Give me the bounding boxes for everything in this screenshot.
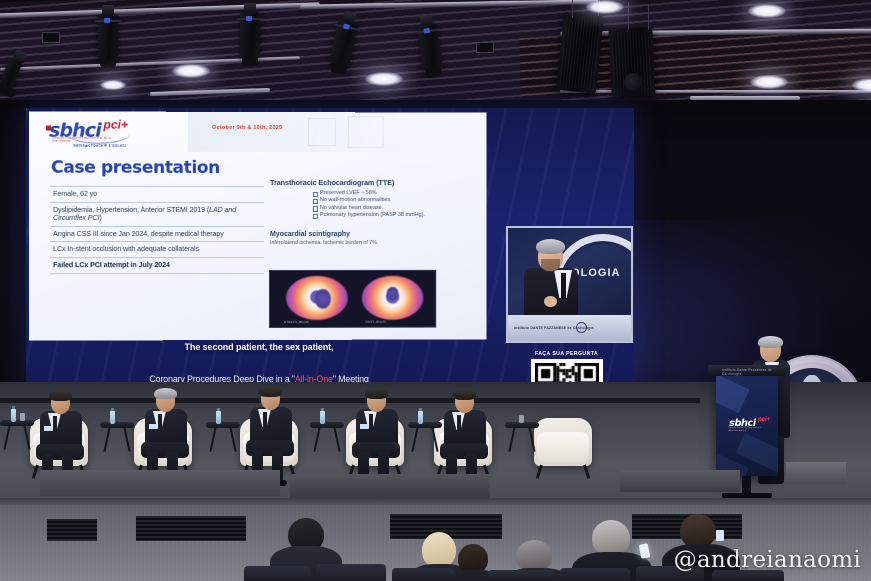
floor-riser-block	[786, 462, 846, 484]
side-table	[206, 422, 240, 452]
ceiling-downlight	[172, 64, 210, 78]
water-glass	[20, 413, 25, 421]
podium: Instituto Dante Pazzanese de Cardiologia…	[716, 365, 778, 485]
water-bottle	[320, 411, 325, 424]
side-table	[505, 422, 539, 452]
side-table	[0, 420, 34, 450]
panelist	[139, 390, 193, 462]
ceiling-loudspeaker	[556, 12, 604, 94]
slide-header-image	[188, 112, 487, 153]
history-row: Angina CSS III since Jan 2024, despite m…	[50, 227, 264, 243]
tte-finding: Pulmonary hypertension (PASP 38 mmHg).	[320, 212, 474, 219]
tte-heading: Transthoracic Echocardiogram (TTE)	[270, 178, 474, 187]
scintigraphy-label: STRESS_BN(IR)	[284, 320, 309, 324]
tte-findings-list: Preserved LVEF – 58% No wall-motion abno…	[280, 190, 474, 220]
slide-right-column: Transthoracic Echocardiogram (TTE) Prese…	[270, 178, 474, 246]
wall-vent	[47, 519, 97, 541]
podium-top-text: Instituto Dante Pazzanese de Cardiologia	[722, 368, 778, 376]
ceiling-downlight	[750, 75, 788, 89]
scintigraphy-label: REST_BN(IR)	[366, 320, 387, 324]
tte-finding: No valvular heart disease.	[320, 205, 474, 212]
water-bottle	[110, 411, 115, 424]
side-table	[310, 422, 344, 452]
side-table	[408, 422, 442, 452]
scintigraphy-heading: Myocardial scintigraphy	[270, 231, 474, 238]
qr-heading: FAÇA SUA PERGUNTA	[520, 351, 613, 357]
logo-suffix: pci+	[103, 118, 128, 132]
projection-screen: sbhci pci+ Coronary Procedures Deep Dive…	[26, 108, 634, 391]
speaker-video-feed: IOLOGIA Instituto DANTE PAZZANESE de Car…	[506, 226, 633, 343]
tte-finding: Preserved LVEF – 58%	[320, 190, 474, 197]
logo-partners: SWISS◉CTO&CHIP & SOLACI	[73, 144, 126, 148]
audience-seat	[316, 564, 386, 581]
audience-seat	[488, 570, 554, 581]
panel-chair-empty	[534, 418, 592, 466]
history-row: Dyslipidemia, Hypertension, Anterior STE…	[50, 202, 264, 226]
tte-finding: No wall-motion abnormalities.	[320, 197, 474, 204]
ceiling-loudspeaker	[608, 27, 655, 97]
scintigraphy-images: STRESS_BN(IR) REST_BN(IR)	[269, 270, 436, 328]
scintigraphy-summary: Inferolateral ischemia. Ischemic burden …	[270, 240, 474, 246]
panelist	[244, 388, 298, 460]
panelist	[34, 392, 88, 464]
audience-seat	[392, 568, 454, 581]
stage-light-fixture	[98, 14, 118, 60]
history-row: Female, 62 yo	[50, 186, 264, 203]
floor-riser-block	[620, 470, 740, 492]
feed-podium-logo-icon	[576, 322, 587, 333]
conference-hall-photo: sbhci pci+ Coronary Procedures Deep Dive…	[0, 0, 871, 581]
slide-title: Case presentation	[51, 158, 220, 178]
ceiling	[0, 0, 871, 108]
ceiling-vent	[42, 32, 60, 43]
history-row: LCx In-stent occlusion with adequate col…	[50, 242, 264, 258]
logo-subtitle: Coronary Procedures Deep Dive in a "All-…	[728, 427, 762, 432]
presentation-slide: sbhci pci+ Coronary Procedures Deep Dive…	[29, 111, 487, 340]
history-row: Failed LCx PCI attempt in July 2024	[50, 258, 264, 274]
floor-riser-block	[290, 474, 490, 498]
podium-front-panel: sbhci pci+ Coronary Procedures Deep Dive…	[716, 376, 778, 476]
side-table	[100, 422, 134, 452]
bullseye-plot-rest	[362, 276, 424, 320]
water-bottle	[11, 409, 16, 422]
ceiling-downlight	[586, 0, 624, 14]
panelist	[350, 390, 404, 462]
floor-riser-block	[40, 470, 280, 496]
water-glass	[519, 415, 524, 423]
stage-front-wall-cap	[0, 498, 871, 505]
bullseye-plot-stress	[286, 276, 348, 320]
wall-vent	[136, 516, 246, 541]
lighting-truss	[560, 90, 871, 93]
slide-logo: sbhci pci+ Coronary Procedures Deep Dive…	[49, 117, 132, 143]
ceiling-downlight	[748, 4, 786, 18]
ceiling-downlight	[100, 80, 126, 90]
ceiling-downlight	[365, 72, 403, 86]
patient-history-list: Female, 62 yo Dyslipidemia, Hypertension…	[50, 186, 264, 274]
stage-light-fixture	[240, 12, 260, 58]
logo-suffix: pci+	[758, 417, 770, 423]
podium-logo: sbhci pci+ Coronary Procedures Deep Dive…	[726, 418, 770, 433]
screen-caption: The second patient, the sex patient,	[26, 342, 492, 352]
watermark: @andreianaomi	[674, 547, 861, 573]
water-bottle	[216, 411, 221, 424]
panelist	[438, 391, 492, 463]
audience-seat	[560, 568, 630, 581]
audience-badge	[716, 530, 724, 541]
ceiling-vent	[476, 42, 494, 53]
water-bottle	[418, 411, 423, 424]
audience-seat	[244, 566, 310, 581]
slide-date: October 9th & 10th, 2025	[212, 125, 282, 131]
